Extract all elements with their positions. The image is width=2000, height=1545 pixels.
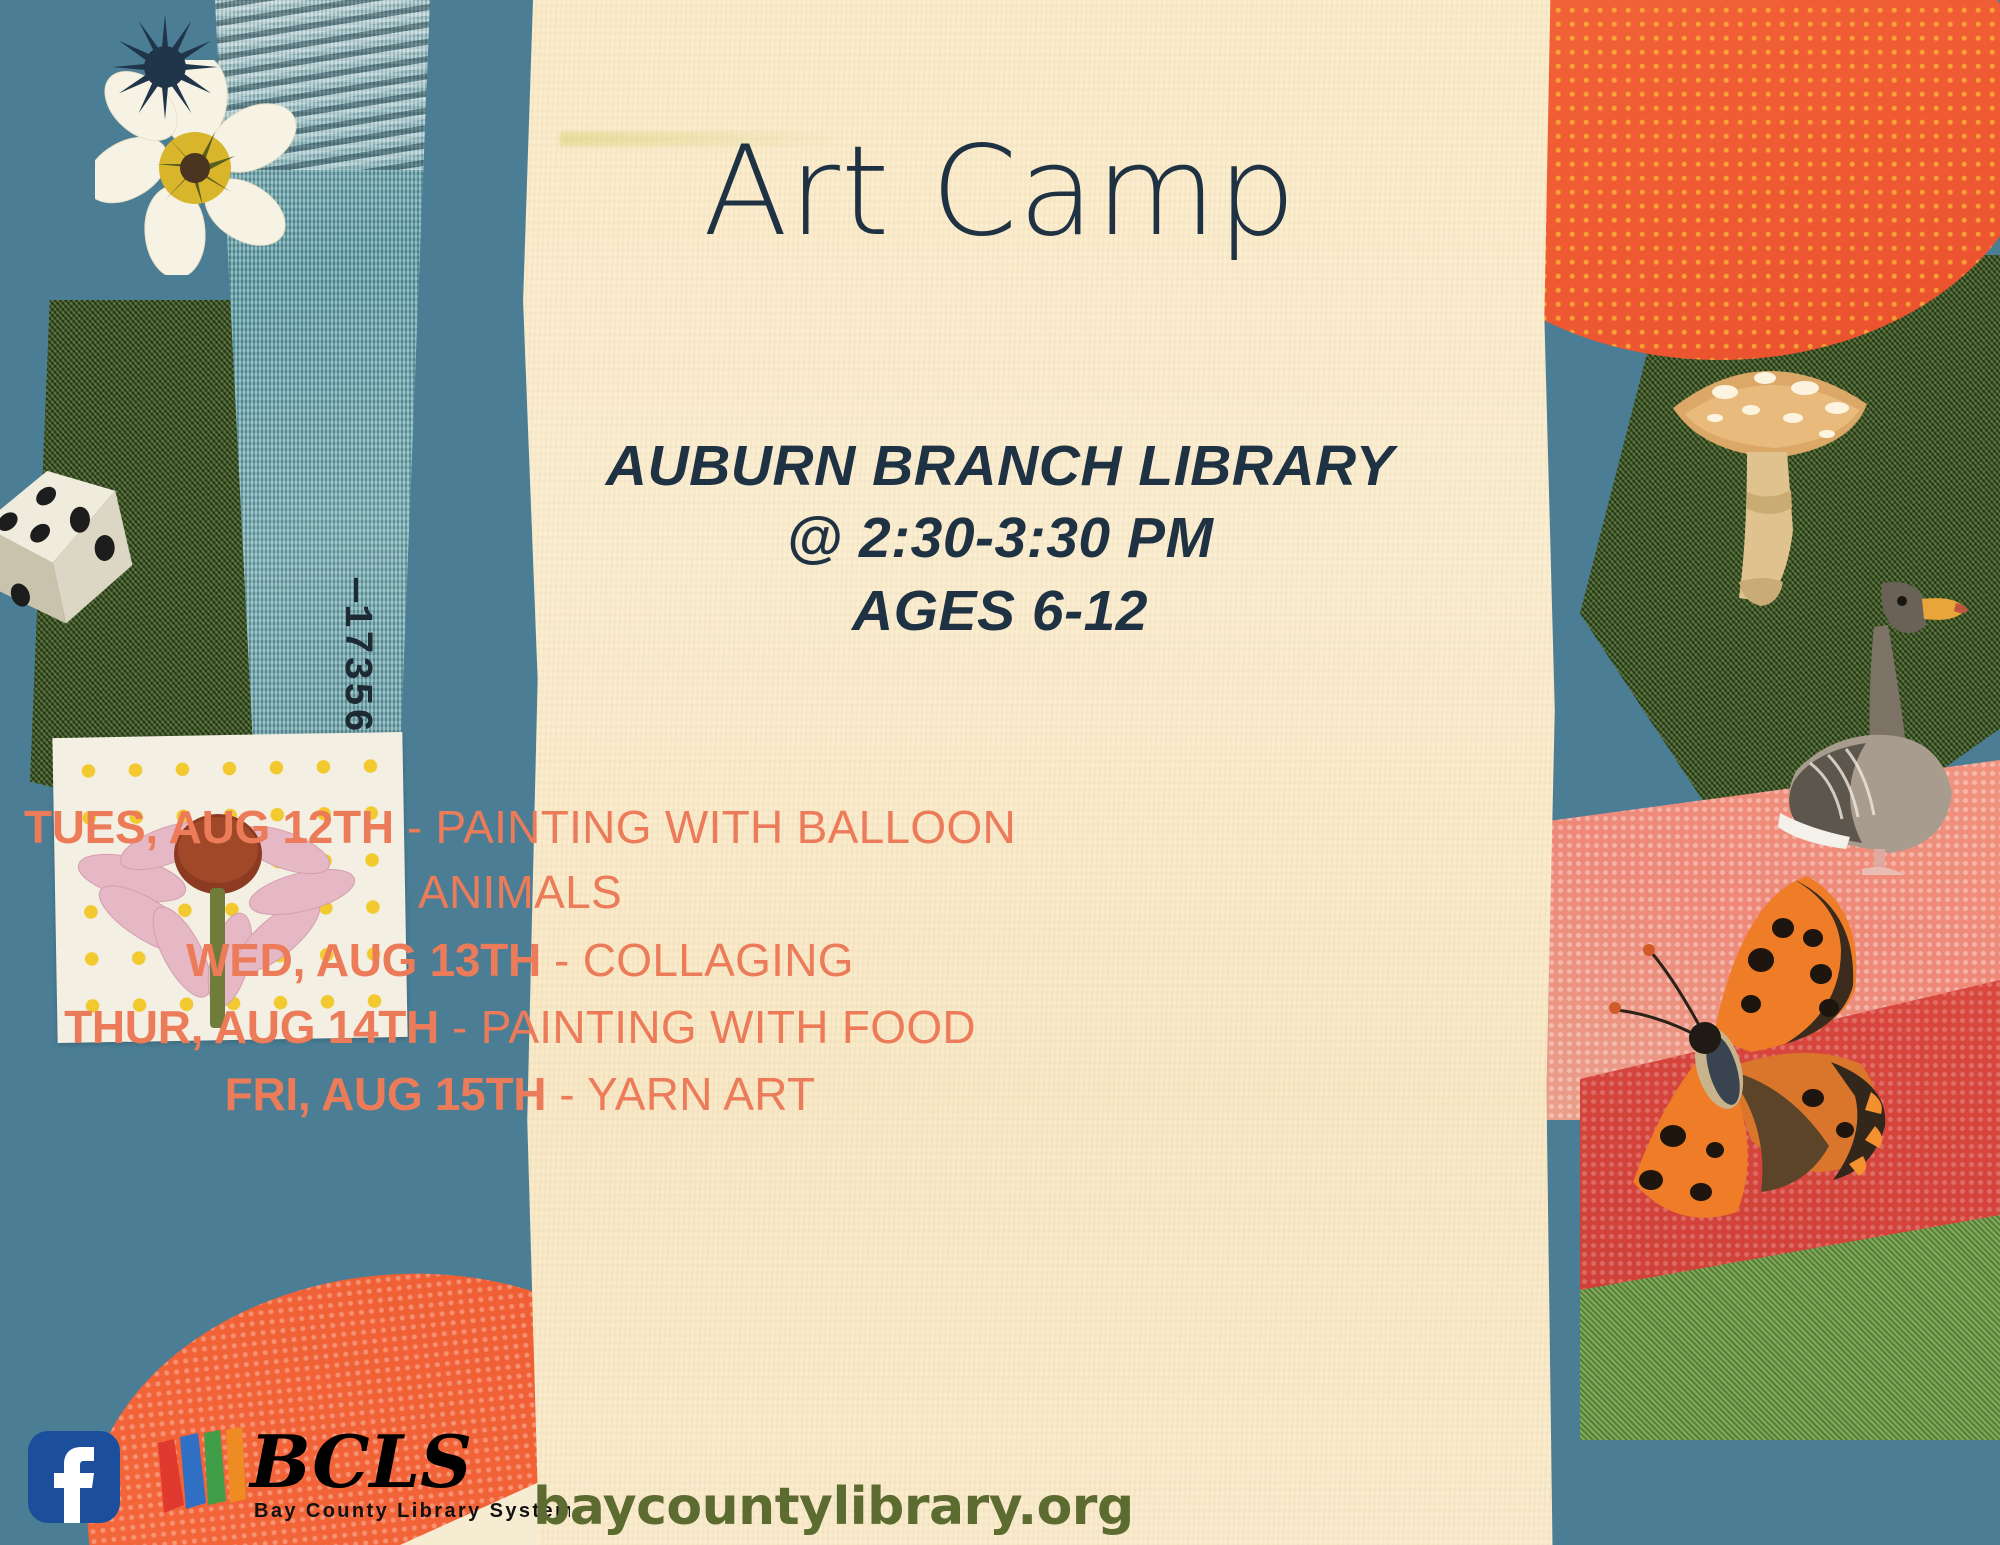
page-title: Art Camp — [0, 130, 2000, 254]
schedule-description: YARN ART — [587, 1068, 815, 1120]
schedule-row: THUR, AUG 14TH - PAINTING WITH FOOD — [12, 995, 1028, 1060]
event-time: @ 2:30-3:30 PM — [0, 502, 2000, 574]
schedule-separator: - — [394, 801, 436, 853]
schedule-date: FRI, AUG 15TH — [225, 1068, 547, 1120]
schedule-description: COLLAGING — [583, 934, 854, 986]
schedule-date: THUR, AUG 14TH — [64, 1001, 439, 1053]
facebook-icon[interactable] — [28, 1431, 120, 1523]
website-url[interactable]: baycountylibrary.org — [533, 1477, 1134, 1537]
bcls-wordmark: BCLS — [248, 1419, 472, 1504]
butterfly-icon — [1555, 840, 1905, 1240]
schedule-separator: - — [541, 934, 583, 986]
schedule-separator: - — [439, 1001, 481, 1053]
bcls-logo[interactable]: BCLS Bay County Library System — [150, 1417, 570, 1525]
schedule-list: TUES, AUG 12TH - PAINTING WITH BALLOON A… — [12, 795, 1028, 1130]
schedule-row: TUES, AUG 12TH - PAINTING WITH BALLOON A… — [12, 795, 1028, 926]
schedule-date: WED, AUG 13TH — [186, 934, 541, 986]
event-ages: AGES 6-12 — [0, 575, 2000, 647]
schedule-row: WED, AUG 13TH - COLLAGING — [12, 928, 1028, 993]
schedule-separator: - — [546, 1068, 587, 1120]
event-poster: —17356 — [0, 0, 2000, 1545]
bcls-tagline: Bay County Library System — [254, 1500, 570, 1522]
starburst-icon — [110, 12, 220, 122]
schedule-description: PAINTING WITH BALLOON ANIMALS — [418, 801, 1016, 918]
schedule-date: TUES, AUG 12TH — [24, 801, 394, 853]
event-details: AUBURN BRANCH LIBRARY @ 2:30-3:30 PM AGE… — [0, 430, 2000, 647]
schedule-row: FRI, AUG 15TH - YARN ART — [12, 1062, 1028, 1127]
book-spines-mark — [158, 1427, 246, 1513]
event-location: AUBURN BRANCH LIBRARY — [0, 430, 2000, 502]
schedule-description: PAINTING WITH FOOD — [481, 1001, 976, 1053]
footer: BCLS Bay County Library System baycounty… — [0, 1395, 2000, 1545]
